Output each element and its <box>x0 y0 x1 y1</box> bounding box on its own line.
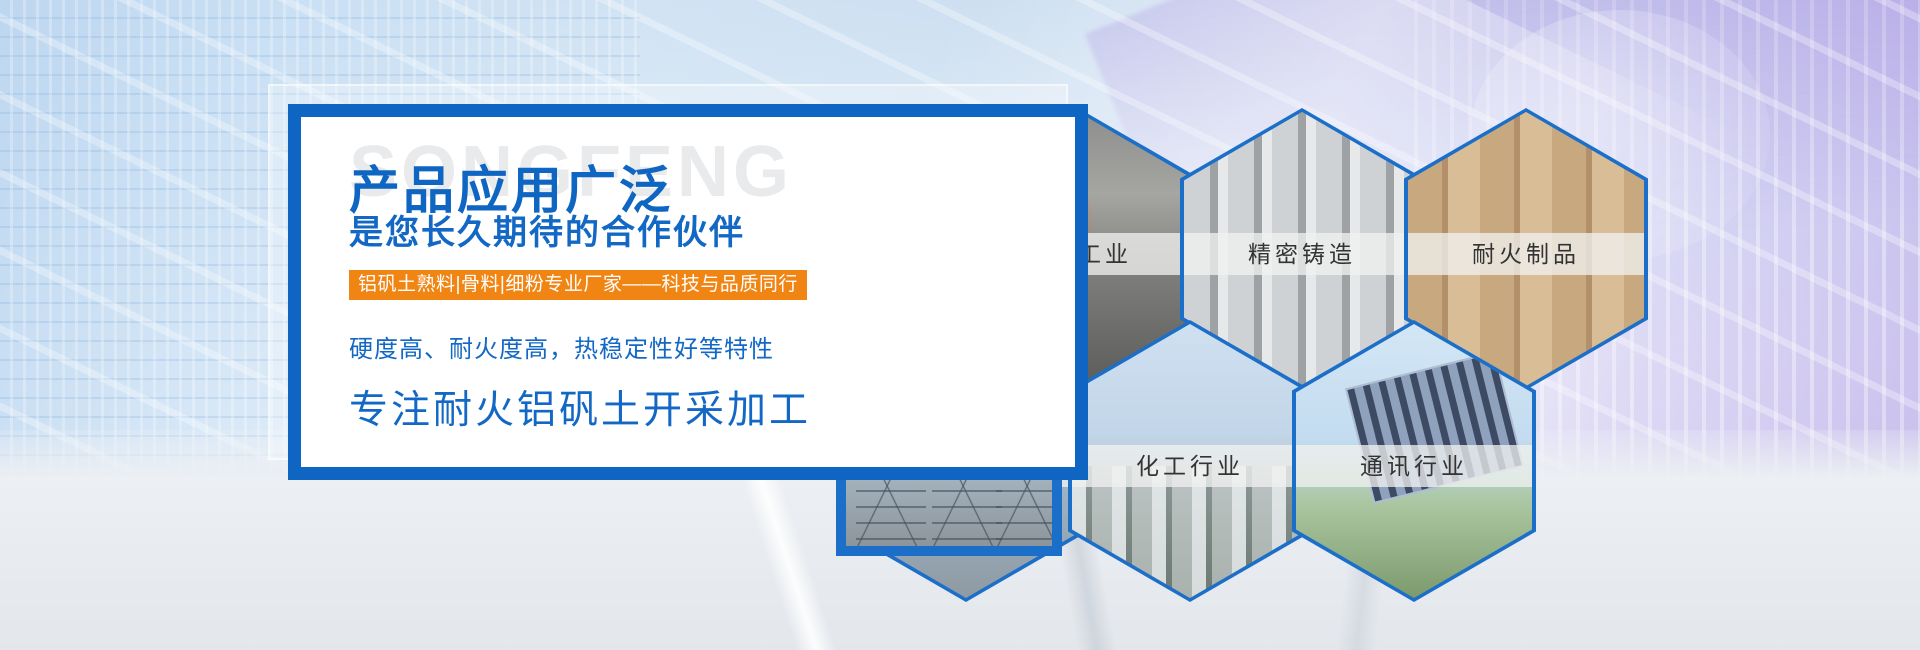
tagline-text: 专注耐火铝矾土开采加工 <box>349 379 811 435</box>
hexagon-telecom-label: 通讯行业 <box>1296 445 1532 487</box>
subheadline: 是您长久期待的合作伙伴 <box>349 205 745 254</box>
orange-ribbon: 铝矾土熟料|骨料|细粉专业厂家——科技与品质同行 <box>349 270 807 300</box>
text-panel: SONGFENG 产品应用广泛 是您长久期待的合作伙伴 铝矾土熟料|骨料|细粉专… <box>288 104 1088 480</box>
hexagon-chemical-label: 化工行业 <box>1072 445 1308 487</box>
feature-text: 硬度高、耐火度高，热稳定性好等特性 <box>349 329 774 364</box>
product-application-banner: 炼铝工业 精密铸造 耐火制品 石油行业 化工行业 <box>0 0 1920 650</box>
hexagon-casting-label: 精密铸造 <box>1184 233 1420 275</box>
hexagon-refractory-label: 耐火制品 <box>1408 233 1644 275</box>
text-panel-inner: SONGFENG 产品应用广泛 是您长久期待的合作伙伴 铝矾土熟料|骨料|细粉专… <box>301 117 1075 467</box>
